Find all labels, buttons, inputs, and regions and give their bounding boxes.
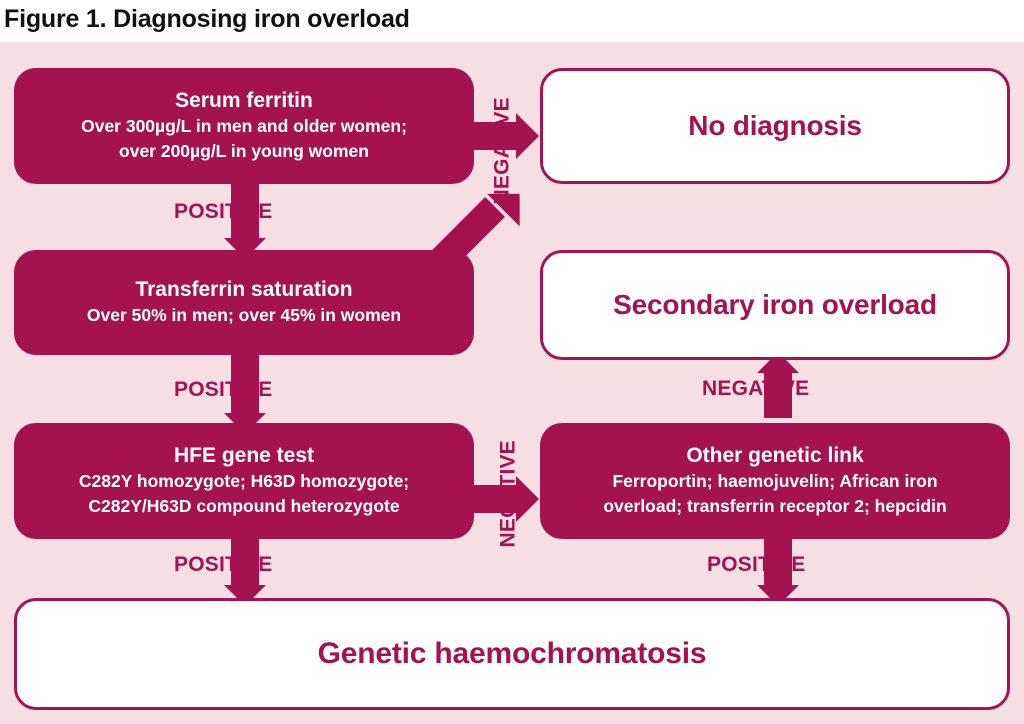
node-genetic-haemochromatosis[interactable]: Genetic haemochromatosis (14, 598, 1010, 710)
node-serum-ferritin-detail-2: over 200µg/L in young women (109, 139, 379, 164)
node-hfe-gene-test-detail-1: C282Y homozygote; H63D homozygote; (69, 469, 419, 494)
edge-label-ferritin-positive: POSITIVE (174, 201, 272, 222)
node-hfe-gene-test-detail-2: C282Y/H63D compound heterozygote (78, 494, 409, 519)
node-other-genetic-link-detail-1: Ferroportin; haemojuvelin; African iron (602, 469, 947, 494)
diagram-canvas: Serum ferritin Over 300µg/L in men and o… (0, 42, 1024, 724)
node-other-genetic-link-heading: Other genetic link (676, 443, 873, 469)
figure-root: Figure 1. Diagnosing iron overload Seru (0, 0, 1024, 724)
node-no-diagnosis-heading: No diagnosis (678, 109, 871, 143)
edge-label-transferrin-positive: POSITIVE (174, 379, 272, 400)
node-hfe-gene-test-heading: HFE gene test (164, 443, 324, 469)
node-secondary-iron-overload[interactable]: Secondary iron overload (540, 250, 1010, 360)
node-other-genetic-link[interactable]: Other genetic link Ferroportin; haemojuv… (540, 423, 1010, 539)
node-no-diagnosis[interactable]: No diagnosis (540, 68, 1010, 184)
edge-label-hfe-positive: POSITIVE (174, 554, 272, 575)
node-genetic-haemochromatosis-heading: Genetic haemochromatosis (308, 636, 717, 673)
edge-ferritin-negative-arrowhead (516, 113, 539, 159)
edge-label-other-genetic-positive: POSITIVE (707, 554, 805, 575)
edge-label-ferritin-negative: NEGATIVE (492, 101, 513, 205)
node-serum-ferritin[interactable]: Serum ferritin Over 300µg/L in men and o… (14, 68, 474, 184)
figure-title: Figure 1. Diagnosing iron overload (4, 2, 1014, 40)
node-transferrin-saturation-detail-1: Over 50% in men; over 45% in women (77, 303, 411, 328)
node-serum-ferritin-heading: Serum ferritin (165, 88, 323, 114)
node-transferrin-saturation-heading: Transferrin saturation (125, 277, 362, 303)
node-secondary-iron-overload-heading: Secondary iron overload (603, 288, 947, 322)
node-hfe-gene-test[interactable]: HFE gene test C282Y homozygote; H63D hom… (14, 423, 474, 539)
node-transferrin-saturation[interactable]: Transferrin saturation Over 50% in men; … (14, 250, 474, 355)
node-other-genetic-link-detail-2: overload; transferrin receptor 2; hepcid… (593, 494, 956, 519)
edge-label-transferrin-negative: NEGATIVE (498, 444, 519, 548)
node-serum-ferritin-detail-1: Over 300µg/L in men and older women; (71, 114, 417, 139)
edge-label-other-genetic-negative: NEGATIVE (702, 378, 809, 399)
